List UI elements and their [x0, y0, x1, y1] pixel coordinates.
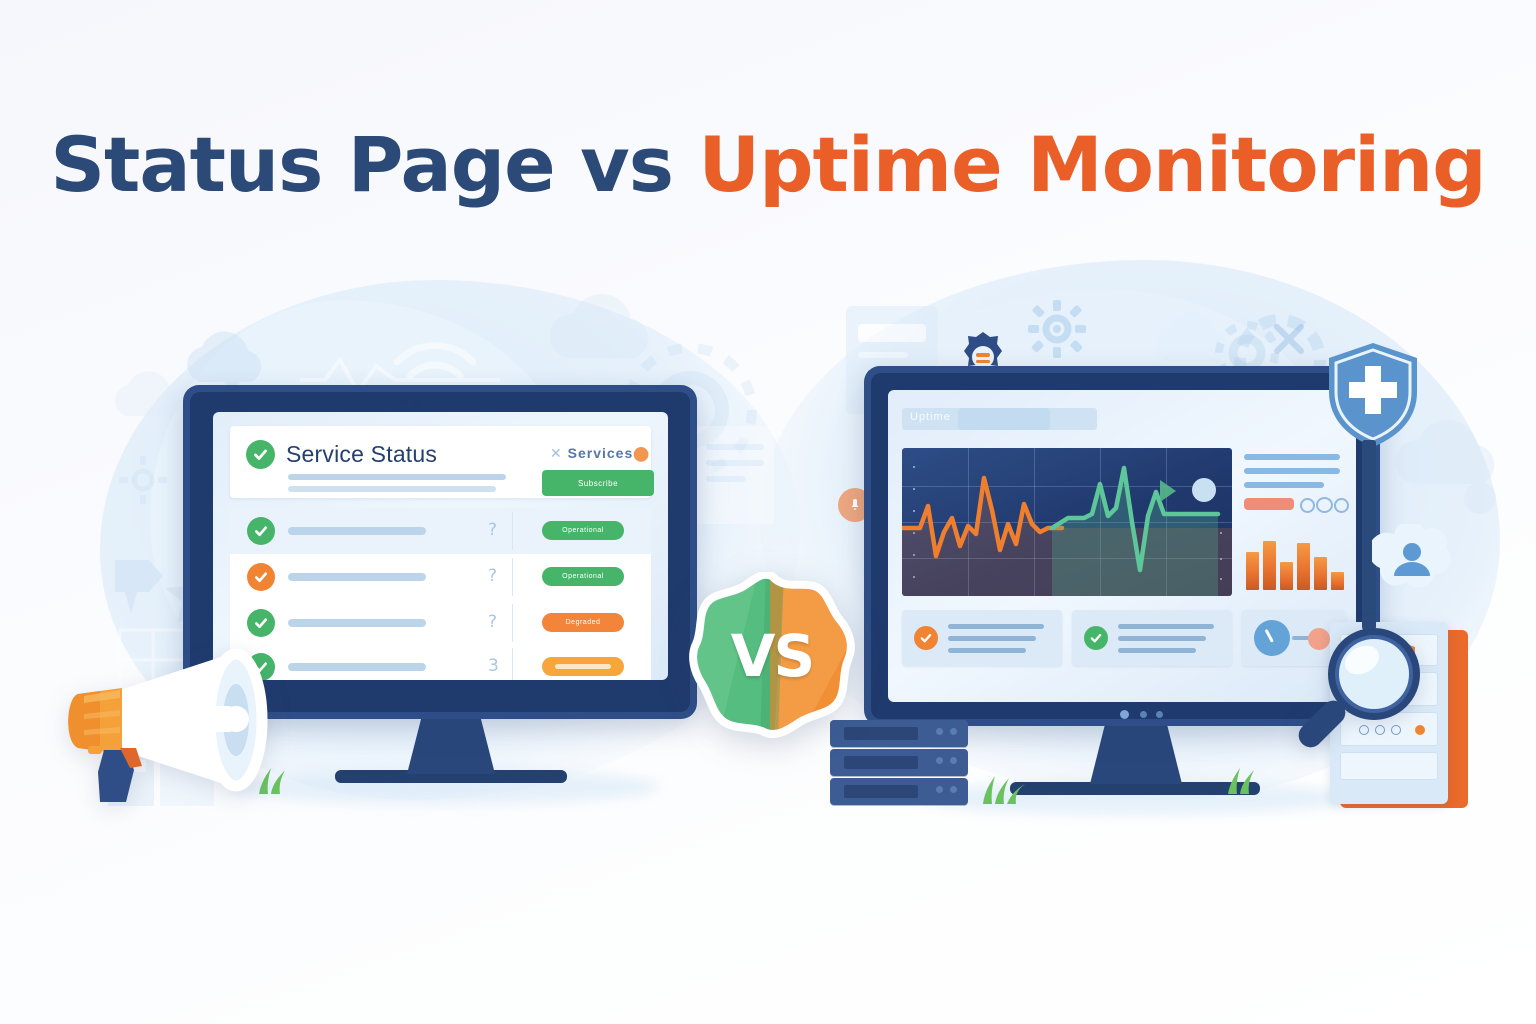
skeleton-line [288, 486, 496, 492]
server-unit [830, 749, 968, 776]
server-led [936, 786, 943, 793]
server-led [950, 757, 957, 764]
status-ring-icon [1334, 498, 1349, 513]
magnifier-icon [1288, 612, 1438, 762]
bar-chart-bar [1331, 572, 1344, 590]
check-circle-icon [1084, 626, 1108, 650]
server-led [950, 728, 957, 735]
dashboard-topbar-label: Uptime [910, 411, 951, 423]
card-text-line [1118, 648, 1196, 653]
bar-chart-bar [1280, 562, 1293, 590]
play-icon[interactable] [1160, 480, 1176, 502]
server-unit [830, 778, 968, 805]
megaphone-icon [60, 630, 330, 820]
table-row[interactable]: ? Operational [230, 508, 651, 554]
title-part-navy: Status Page vs [50, 120, 698, 209]
camera-dot-left [400, 399, 407, 406]
x-icon: ✕ [550, 445, 563, 461]
status-badge: Operational [542, 567, 624, 586]
check-circle-icon [247, 517, 275, 545]
live-indicator-dot [1192, 478, 1216, 502]
service-logo: ✕ Services⬤ [550, 445, 650, 462]
skeleton-line [288, 474, 506, 480]
dashboard-side-panel [1244, 448, 1344, 596]
check-circle-icon [246, 440, 275, 469]
response-time-chart [902, 448, 1232, 596]
camera-dot-left-2 [414, 400, 419, 405]
bar-chart-bar [1263, 541, 1276, 590]
page-title: Status Page vs Uptime Monitoring [0, 120, 1536, 209]
side-text-line [1244, 468, 1340, 474]
status-badge: Operational [542, 521, 624, 540]
row-divider [512, 558, 513, 596]
row-divider [512, 648, 513, 680]
status-page-header-card: Service Status ✕ Services⬤ Subscribe [230, 426, 651, 498]
dashboard-topbar-segment [958, 408, 1050, 430]
close-icon [1272, 322, 1306, 356]
vs-badge-label: VS [688, 572, 856, 740]
grass-icon [975, 768, 1029, 804]
side-text-line [1244, 482, 1324, 488]
gauge-icon [1254, 620, 1290, 656]
bar-chart-bar [1246, 552, 1259, 590]
illustration-canvas: Service Status ✕ Services⬤ Subscribe ? O… [0, 0, 1536, 1024]
row-label-skeleton [288, 573, 426, 581]
camera-dot-right [1120, 710, 1129, 719]
row-meta: ? [488, 520, 497, 540]
chart-series-green [902, 448, 1232, 596]
row-divider [512, 512, 513, 550]
row-meta: ? [488, 612, 497, 632]
card-text-line [1118, 636, 1206, 641]
card-text-line [948, 636, 1036, 641]
row-meta: ? [488, 566, 497, 586]
status-ring-icon [1300, 498, 1315, 513]
title-part-orange: Uptime Monitoring [698, 120, 1485, 209]
table-row[interactable]: ? Operational [230, 554, 651, 600]
side-highlight-bar [1244, 498, 1294, 510]
grass-icon [1222, 760, 1268, 794]
camera-dot-right-2 [1140, 711, 1147, 718]
server-led [950, 786, 957, 793]
card-text-line [1118, 624, 1214, 629]
service-logo-text: Services [568, 445, 634, 461]
server-slot [844, 756, 918, 769]
gauge-needle [1265, 629, 1274, 643]
row-label-skeleton [288, 619, 426, 627]
bar-chart-bar [1314, 557, 1327, 590]
server-led [936, 757, 943, 764]
logo-dot: ⬤ [633, 445, 650, 461]
camera-dot-right-3 [1156, 711, 1163, 718]
status-card[interactable] [902, 610, 1062, 666]
check-circle-icon [914, 626, 938, 650]
side-text-line [1244, 454, 1340, 460]
status-badge-progress [542, 657, 624, 676]
shield-cross-icon [1325, 340, 1421, 450]
status-card[interactable] [1072, 610, 1232, 666]
document-icon [690, 420, 780, 530]
row-meta: 3 [488, 656, 499, 676]
subscribe-button[interactable]: Subscribe [542, 470, 654, 496]
user-icon [1372, 524, 1452, 602]
progress-fill [555, 664, 611, 669]
row-label-skeleton [288, 527, 426, 535]
uptime-dashboard-screen: Uptime [888, 390, 1356, 702]
status-ring-icon [1316, 497, 1333, 513]
gear-icon [118, 455, 168, 505]
page-title: Service Status [286, 441, 437, 468]
check-circle-icon [247, 563, 275, 591]
status-badge: Degraded [542, 613, 624, 632]
server-led [936, 728, 943, 735]
row-divider [512, 604, 513, 642]
card-text-line [948, 648, 1026, 653]
vs-badge: VS [688, 572, 856, 740]
server-slot [844, 785, 918, 798]
bar-chart-bar [1297, 543, 1310, 590]
card-text-line [948, 624, 1044, 629]
gear-icon [1028, 300, 1086, 358]
